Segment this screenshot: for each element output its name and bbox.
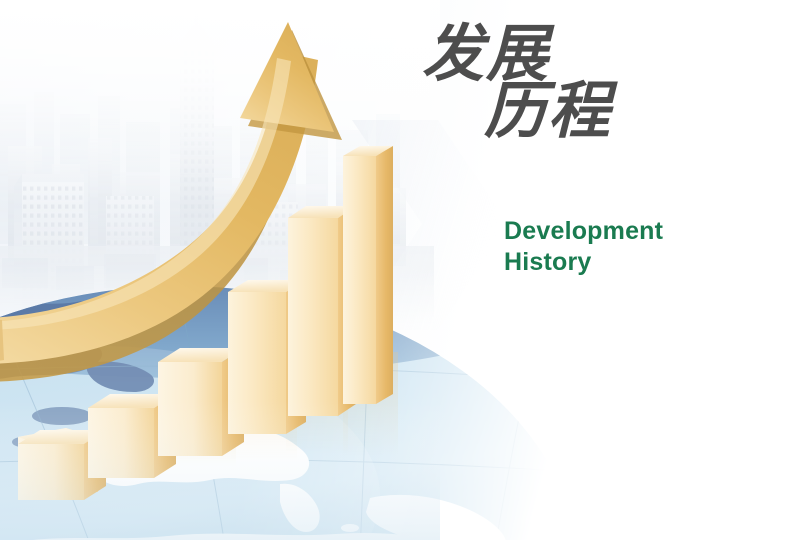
banner-canvas: 发展 历程 Development History [0,0,800,540]
title-en-line2: History [504,247,663,278]
title-block: 发展 历程 Development History [418,18,748,288]
title-en-line1: Development [504,216,663,247]
bar-6 [343,146,393,404]
calligraphy-title-cn: 发展 历程 [418,18,718,208]
calligraphy-glyphs: 发展 历程 [422,24,712,142]
title-cn-line2: 历程 [484,81,712,142]
title-en: Development History [504,216,663,277]
